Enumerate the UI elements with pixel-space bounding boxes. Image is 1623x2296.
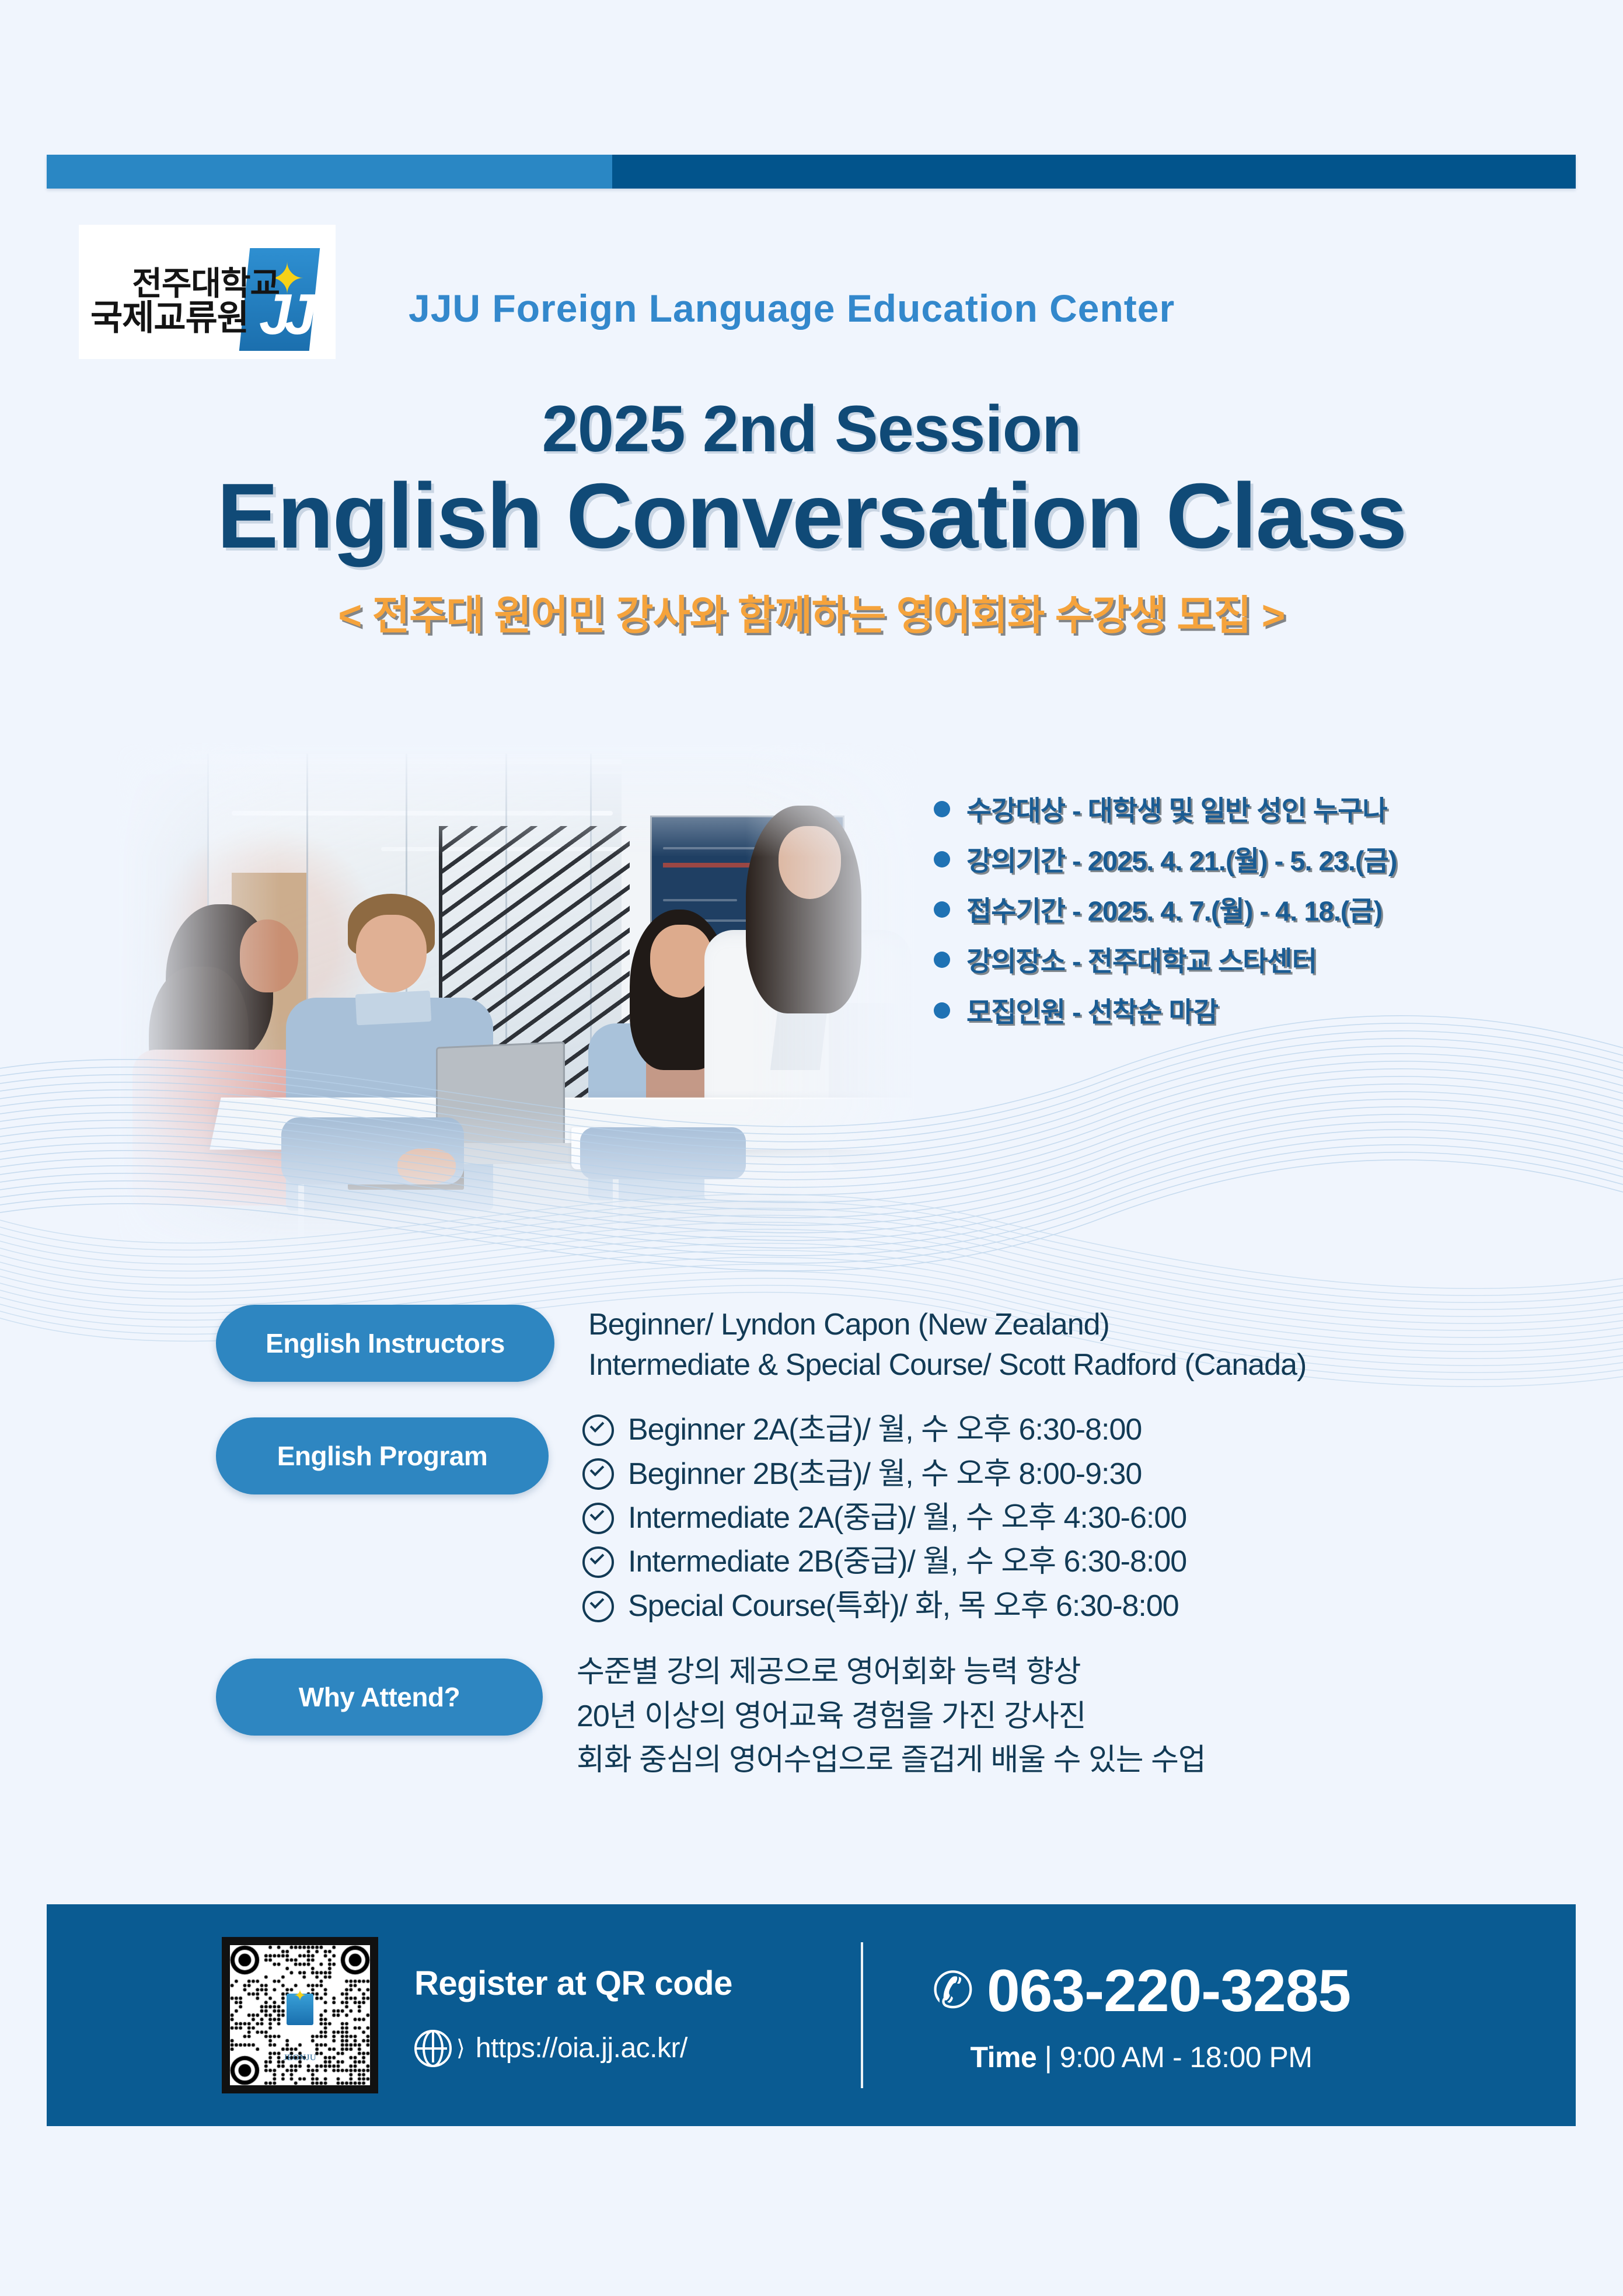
logo-korean-text: 전주대학교 국제교류원 [90, 267, 283, 336]
check-circle-icon [582, 1546, 614, 1578]
qr-star-icon: ✦ [294, 1988, 306, 2003]
globe-icon [414, 2030, 452, 2067]
check-circle-icon [582, 1591, 614, 1622]
bullet-text: 모집인원 - 선착순 마감 [966, 992, 1218, 1032]
website-url[interactable]: https://oia.jj.ac.kr/ [476, 2032, 687, 2064]
phone-block: ✆ 063-220-3285 Time | 9:00 AM - 18:00 PM [932, 1957, 1350, 2074]
top-accent-bar-left [47, 155, 612, 189]
time-value: 9:00 AM - 18:00 PM [1060, 2041, 1313, 2074]
program-item: Special Course(특화)/ 화, 목 오후 6:30-8:00 [582, 1584, 1186, 1628]
list-item: 모집인원 - 선착순 마감 [934, 992, 1397, 1032]
poster-root: ✦ JJ 전주대학교 국제교류원 JJU Foreign Language Ed… [0, 0, 1623, 2296]
program-item: Beginner 2A(초급)/ 월, 수 오후 6:30-8:00 [582, 1408, 1186, 1452]
qr-center-word: JEONJU [284, 2053, 316, 2063]
check-circle-icon [582, 1414, 614, 1446]
bullet-text: 접수기간 - 2025. 4. 7.(월) - 4. 18.(금) [966, 891, 1382, 931]
section-why-attend: Why Attend? 수준별 강의 제공으로 영어회화 능력 향상 20년 이… [0, 1659, 1623, 1782]
list-item: 강의기간 - 2025. 4. 21.(월) - 5. 23.(금) [934, 841, 1397, 881]
check-circle-icon [582, 1458, 614, 1490]
pill-why-attend: Why Attend? [216, 1659, 543, 1736]
bullet-dot-icon [934, 1002, 950, 1019]
section-program: English Program Beginner 2A(초급)/ 월, 수 오후… [0, 1417, 1623, 1628]
program-item-text: Intermediate 2B(중급)/ 월, 수 오후 6:30-8:00 [628, 1540, 1186, 1584]
section-instructors: English Instructors Beginner/ Lyndon Cap… [0, 1305, 1623, 1385]
top-accent-bar-right [612, 155, 1576, 189]
bullet-dot-icon [934, 901, 950, 918]
bullet-dot-icon [934, 801, 950, 817]
bullet-dot-icon [934, 851, 950, 867]
why-attend-line: 20년 이상의 영어교육 경험을 가진 강사진 [577, 1695, 1206, 1738]
signal-icon: ⟩ [456, 2035, 465, 2061]
bullet-text: 강의기간 - 2025. 4. 21.(월) - 5. 23.(금) [966, 841, 1397, 881]
pill-english-instructors: English Instructors [216, 1305, 554, 1382]
title-line-1: 2025 2nd Session [0, 394, 1623, 465]
logo-line-2: 국제교류원 [90, 300, 283, 336]
program-item-text: Beginner 2A(초급)/ 월, 수 오후 6:30-8:00 [628, 1408, 1142, 1452]
subtitle: < 전주대 원어민 강사와 함께하는 영어회화 수강생 모집 > [0, 583, 1623, 642]
why-attend-line: 회화 중심의 영어수업으로 즐겁게 배울 수 있는 수업 [577, 1738, 1206, 1782]
time-separator: | [1045, 2041, 1052, 2074]
hero-photo [99, 733, 928, 1252]
info-bullet-list: 수강대상 - 대학생 및 일반 성인 누구나 강의기간 - 2025. 4. 2… [934, 791, 1397, 1043]
page-title: English Conversation Class [0, 466, 1623, 567]
program-item-text: Beginner 2B(초급)/ 월, 수 오후 8:00-9:30 [628, 1452, 1142, 1496]
center-name: JJU Foreign Language Education Center [409, 286, 1175, 330]
time-label: Time [971, 2041, 1037, 2074]
pill-english-program: English Program [216, 1417, 549, 1494]
phone-icon: ✆ [932, 1966, 974, 2016]
list-item: 강의장소 - 전주대학교 스타센터 [934, 942, 1397, 981]
why-attend-line: 수준별 강의 제공으로 영어회화 능력 향상 [577, 1650, 1206, 1694]
qr-caption: Register at QR code [414, 1964, 732, 2003]
bullet-text: 수강대상 - 대학생 및 일반 성인 누구나 [966, 791, 1387, 831]
bullet-text: 강의장소 - 전주대학교 스타센터 [966, 942, 1317, 981]
list-item: 접수기간 - 2025. 4. 7.(월) - 4. 18.(금) [934, 891, 1397, 931]
phone-number[interactable]: 063-220-3285 [987, 1957, 1350, 2025]
office-hours: Time | 9:00 AM - 18:00 PM [932, 2040, 1350, 2074]
instructor-line: Beginner/ Lyndon Capon (New Zealand) [588, 1305, 1306, 1345]
logo-line-1: 전주대학교 [90, 267, 283, 300]
title-block: 2025 2nd Session English Conversation Cl… [0, 394, 1623, 642]
jju-logo: ✦ JJ 전주대학교 국제교류원 [79, 225, 336, 359]
bullet-dot-icon [934, 952, 950, 968]
detail-sections: English Instructors Beginner/ Lyndon Cap… [0, 1305, 1623, 1782]
qr-code[interactable]: ✦ JEONJU [222, 1937, 378, 2093]
instructor-line: Intermediate & Special Course/ Scott Rad… [588, 1345, 1306, 1385]
program-item-text: Intermediate 2A(중급)/ 월, 수 오후 4:30-6:00 [628, 1496, 1186, 1540]
check-circle-icon [582, 1503, 614, 1534]
program-item-text: Special Course(특화)/ 화, 목 오후 6:30-8:00 [628, 1584, 1179, 1628]
qr-text-block: Register at QR code ⟩ https://oia.jj.ac.… [414, 1964, 732, 2067]
program-item: Intermediate 2A(중급)/ 월, 수 오후 4:30-6:00 [582, 1496, 1186, 1540]
footer-divider [861, 1942, 863, 2088]
program-item: Beginner 2B(초급)/ 월, 수 오후 8:00-9:30 [582, 1452, 1186, 1496]
program-item: Intermediate 2B(중급)/ 월, 수 오후 6:30-8:00 [582, 1540, 1186, 1584]
list-item: 수강대상 - 대학생 및 일반 성인 누구나 [934, 791, 1397, 831]
contact-footer: ✦ JEONJU Register at QR code ⟩ https://o… [47, 1904, 1576, 2126]
top-accent-bar [47, 155, 1576, 189]
